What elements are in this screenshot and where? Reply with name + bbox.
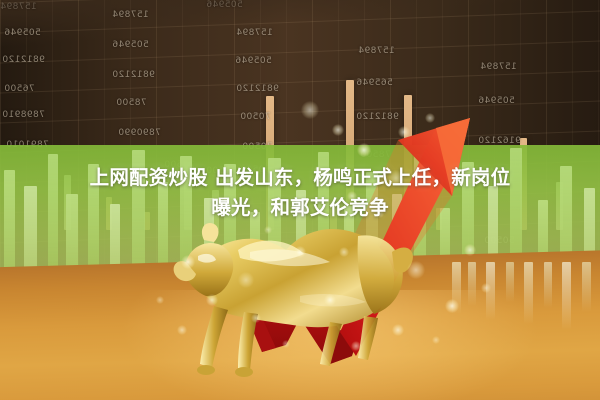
chart-bar: [486, 262, 495, 320]
chart-bar: [452, 262, 461, 314]
chart-bar: [544, 262, 552, 308]
page-title: 上网配资炒股 出发山东，杨鸣正式上任，新岗位 曝光，和郭艾伦竞争: [0, 163, 600, 223]
chart-bar: [468, 262, 476, 306]
chart-bar: [582, 262, 591, 312]
chart-bar: [524, 262, 533, 324]
banner-image: 1578945059469812120765007898910789101015…: [0, 0, 600, 400]
chart-bar: [562, 262, 571, 330]
chart-bar: [506, 262, 514, 302]
headline-line-2: 曝光，和郭艾伦竞争: [0, 193, 600, 223]
headline-line-1: 上网配资炒股 出发山东，杨鸣正式上任，新岗位: [0, 163, 600, 193]
